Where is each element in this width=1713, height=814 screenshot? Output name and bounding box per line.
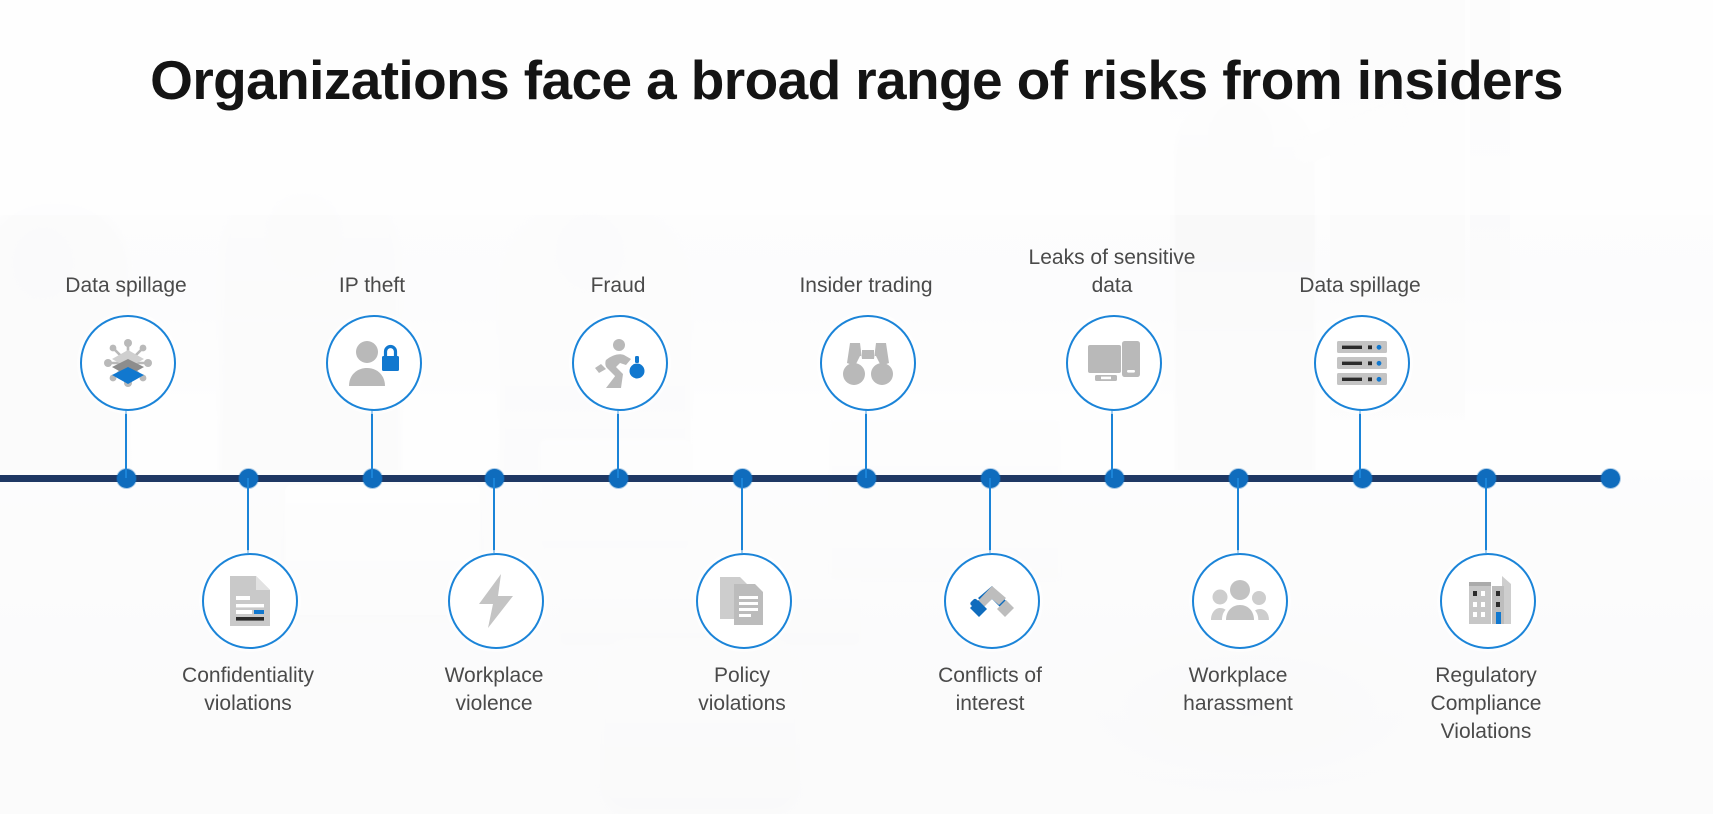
risk-label: Fraud — [503, 272, 733, 300]
risk-icon-bubble-policy-violations[interactable] — [696, 553, 792, 649]
risk-icon-bubble-workplace-violence[interactable] — [448, 553, 544, 649]
page-title: Organizations face a broad range of risk… — [0, 48, 1713, 112]
risk-icon-bubble-data-spillage[interactable] — [1314, 315, 1410, 411]
risk-label: Data spillage — [11, 272, 241, 300]
timeline-connector — [1485, 478, 1487, 553]
risk-label: Leaks of sensitive data — [997, 244, 1227, 300]
timeline-connector — [865, 407, 867, 478]
timeline-connector — [371, 407, 373, 478]
risk-icon-bubble-insider-trading[interactable] — [820, 315, 916, 411]
person-lock-icon — [346, 336, 402, 390]
risk-label: Data spillage — [1245, 272, 1475, 300]
timeline-connector — [741, 478, 743, 553]
risk-label: Conflicts of interest — [875, 662, 1105, 718]
risk-label: Policy violations — [627, 662, 857, 718]
risk-icon-bubble-conflicts-of-interest[interactable] — [944, 553, 1040, 649]
timeline-connector — [493, 478, 495, 553]
devices-icon — [1086, 339, 1142, 387]
handshake-icon — [964, 576, 1020, 626]
risk-label: Workplace harassment — [1123, 662, 1353, 718]
timeline-connector — [617, 407, 619, 478]
timeline-connector — [989, 478, 991, 553]
document-icon — [224, 573, 276, 629]
timeline-connector — [1111, 407, 1113, 478]
timeline-dot — [1105, 469, 1124, 488]
risk-label: Workplace violence — [379, 662, 609, 718]
risk-label: Insider trading — [751, 272, 981, 300]
risk-icon-bubble-fraud[interactable] — [572, 315, 668, 411]
risk-icon-bubble-confidentiality-violations[interactable] — [202, 553, 298, 649]
office-building-icon — [1461, 574, 1515, 628]
timeline-dot — [1353, 469, 1372, 488]
risk-label: Confidentiality violations — [133, 662, 363, 718]
timeline-connector — [1359, 407, 1361, 478]
timeline-connector — [125, 407, 127, 478]
network-layers-icon — [101, 336, 155, 390]
risk-label: IP theft — [257, 272, 487, 300]
risk-icon-bubble-regulatory-compliance-violations[interactable] — [1440, 553, 1536, 649]
timeline-connector — [247, 478, 249, 553]
server-rack-icon — [1334, 338, 1390, 388]
binoculars-icon — [840, 338, 896, 388]
risk-label: Regulatory Compliance Violations — [1371, 662, 1601, 746]
running-person-icon — [592, 336, 648, 390]
risk-icon-bubble-data-spillage[interactable] — [80, 315, 176, 411]
lightning-bolt-icon — [473, 572, 519, 630]
risk-icon-bubble-ip-theft[interactable] — [326, 315, 422, 411]
documents-stack-icon — [718, 574, 770, 628]
risk-icon-bubble-leaks-of-sensitive-data[interactable] — [1066, 315, 1162, 411]
people-group-icon — [1211, 578, 1269, 624]
timeline-connector — [1237, 478, 1239, 553]
timeline-dot — [1601, 469, 1620, 488]
risk-icon-bubble-workplace-harassment[interactable] — [1192, 553, 1288, 649]
